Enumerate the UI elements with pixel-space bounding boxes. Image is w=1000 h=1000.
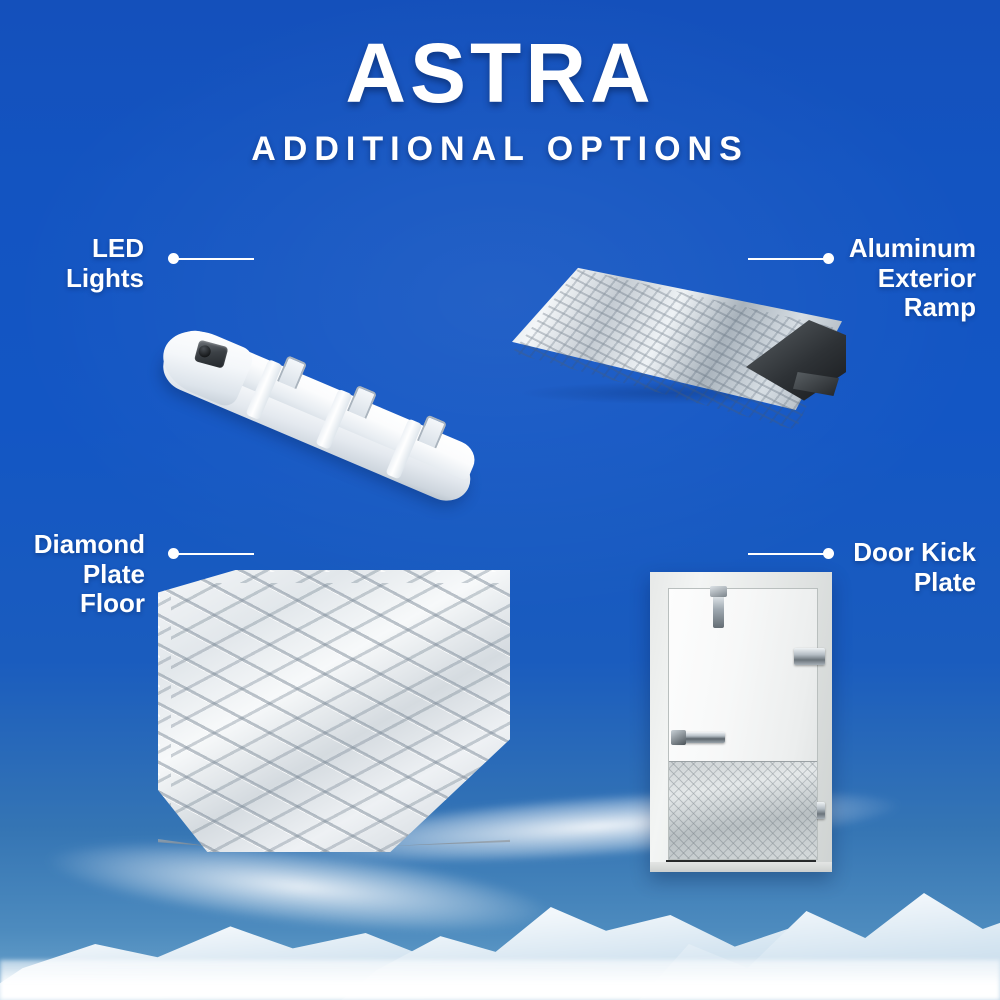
- door-floor-strip: [650, 862, 832, 872]
- door-latch-handle-icon: [675, 732, 725, 743]
- callout-connector-door-kick-plate: [748, 548, 834, 559]
- product-image-diamond-plate-floor: [158, 570, 510, 852]
- led-fixture-body: [156, 322, 484, 508]
- floor-plate-diamond-pattern: [158, 570, 510, 852]
- callout-label-door-kick-plate: Door Kick Plate: [816, 538, 976, 597]
- door-leaf: [668, 588, 818, 860]
- poster-canvas: ASTRA ADDITIONAL OPTIONS LED Lights Alum…: [0, 0, 1000, 1000]
- page-title: ASTRA: [0, 34, 1000, 114]
- callout-label-led-lights: LED Lights: [14, 234, 144, 293]
- callout-label-aluminum-exterior-ramp: Aluminum Exterior Ramp: [816, 234, 976, 323]
- callout-label-diamond-plate-floor: Diamond Plate Floor: [10, 530, 145, 619]
- callout-connector-led-lights: [168, 253, 254, 264]
- door-hinge-top: [794, 648, 825, 665]
- connector-line: [748, 258, 828, 260]
- callout-connector-aluminum-exterior-ramp: [748, 253, 834, 264]
- poster-header: ASTRA ADDITIONAL OPTIONS: [0, 34, 1000, 169]
- connector-line: [174, 258, 254, 260]
- product-image-aluminum-exterior-ramp: [512, 262, 842, 430]
- door-kick-plate-panel: [669, 761, 817, 859]
- callout-connector-diamond-plate-floor: [168, 548, 254, 559]
- door-safety-release-icon: [713, 594, 724, 628]
- page-subtitle: ADDITIONAL OPTIONS: [0, 130, 1000, 169]
- connector-line: [174, 553, 254, 555]
- product-image-led-lights: [150, 268, 530, 448]
- product-image-door-kick-plate: [650, 572, 832, 872]
- snow-base: [0, 960, 1000, 1000]
- connector-line: [748, 553, 828, 555]
